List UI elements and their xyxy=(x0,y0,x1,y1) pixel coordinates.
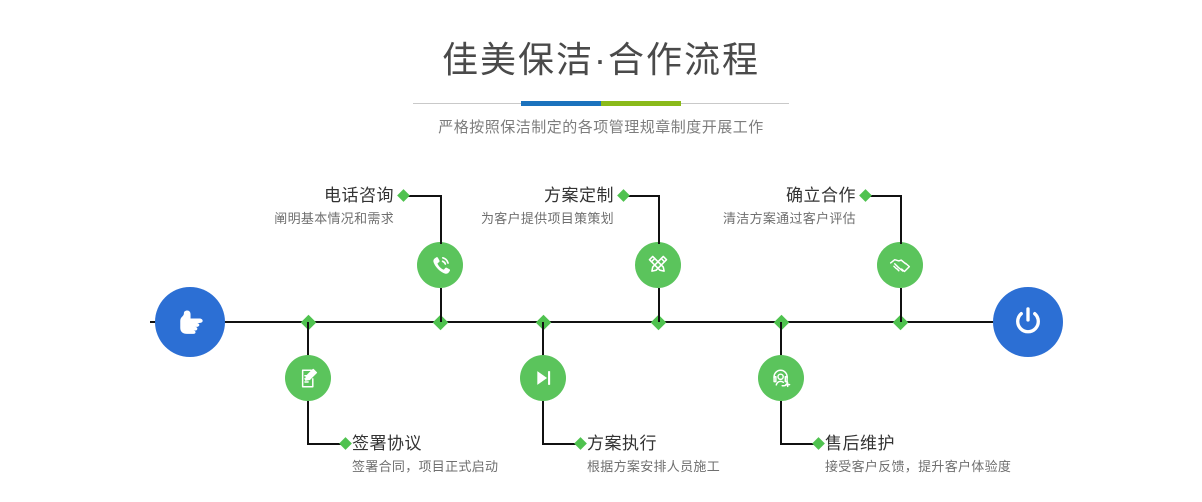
customer-support-icon xyxy=(768,365,794,391)
step-label-establish-cooperation: 确立合作 清洁方案通过客户评估 xyxy=(640,186,856,228)
step-label-phone-consultation: 电话咨询 阐明基本情况和需求 xyxy=(150,186,394,228)
play-execute-icon xyxy=(530,365,556,391)
stem-bottom-3 xyxy=(780,322,782,356)
timeline-axis xyxy=(150,321,1060,323)
power-icon xyxy=(1009,303,1047,341)
stem-bottom-2 xyxy=(542,322,544,356)
step-node-plan-execution[interactable] xyxy=(520,355,566,401)
step-label-after-sales-support: 售后维护 接受客户反馈，提升客户体验度 xyxy=(825,434,1085,476)
step-title: 售后维护 xyxy=(825,434,1085,454)
flow-end-endpoint xyxy=(993,287,1063,357)
flow-start-endpoint xyxy=(155,287,225,357)
label-marker-bottom-1 xyxy=(339,437,352,450)
step-title: 确立合作 xyxy=(640,186,856,206)
stem-bottom-2-lower xyxy=(542,401,544,445)
step-title: 方案定制 xyxy=(400,186,614,206)
step-node-establish-cooperation[interactable] xyxy=(877,242,923,288)
step-desc: 签署合同，项目正式启动 xyxy=(352,458,582,476)
stem-bottom-3-lower xyxy=(780,401,782,445)
stem-top-3-upper xyxy=(900,196,902,244)
step-desc: 阐明基本情况和需求 xyxy=(150,210,394,228)
timeline: 电话咨询 阐明基本情况和需求 方案定制 为客户提供项目策策划 xyxy=(0,0,1202,502)
stem-top-3 xyxy=(900,288,902,322)
step-title: 电话咨询 xyxy=(150,186,394,206)
step-desc: 清洁方案通过客户评估 xyxy=(640,210,856,228)
step-label-sign-agreement: 签署协议 签署合同，项目正式启动 xyxy=(352,434,582,476)
step-node-phone-consultation[interactable] xyxy=(417,242,463,288)
step-node-sign-agreement[interactable] xyxy=(285,355,331,401)
label-marker-top-2 xyxy=(617,189,630,202)
pointing-hand-icon xyxy=(171,303,209,341)
step-desc: 根据方案安排人员施工 xyxy=(587,458,817,476)
step-label-plan-execution: 方案执行 根据方案安排人员施工 xyxy=(587,434,817,476)
label-marker-top-3 xyxy=(859,189,872,202)
stem-top-1 xyxy=(440,288,442,322)
phone-call-icon xyxy=(427,252,453,278)
cooperation-flow-infographic: 佳美保洁·合作流程 严格按照保洁制定的各项管理规章制度开展工作 xyxy=(0,0,1202,502)
handshake-icon xyxy=(887,252,913,278)
step-node-plan-customization[interactable] xyxy=(635,242,681,288)
step-desc: 为客户提供项目策策划 xyxy=(400,210,614,228)
step-label-plan-customization: 方案定制 为客户提供项目策策划 xyxy=(400,186,614,228)
step-desc: 接受客户反馈，提升客户体验度 xyxy=(825,458,1085,476)
stem-top-2 xyxy=(658,288,660,322)
pen-ruler-icon xyxy=(645,252,671,278)
step-node-after-sales-support[interactable] xyxy=(758,355,804,401)
document-edit-icon xyxy=(296,366,321,391)
stem-bottom-1-lower xyxy=(307,401,309,445)
stem-bottom-1 xyxy=(307,322,309,356)
